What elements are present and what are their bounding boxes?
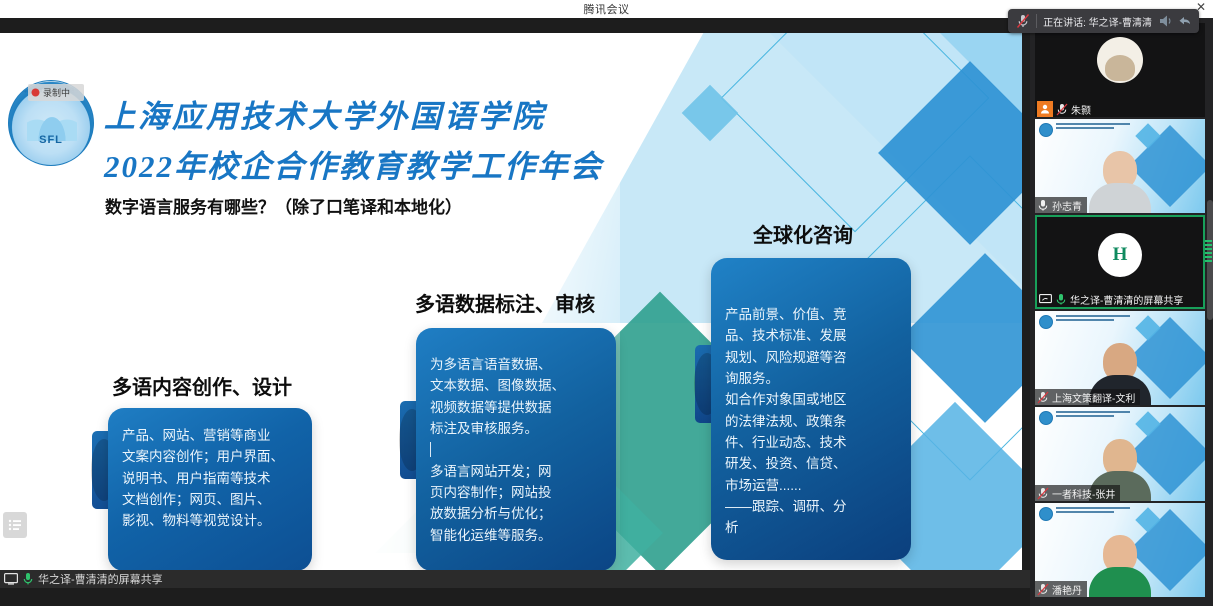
card3-line-10: ——跟踪、调研、分 — [725, 496, 897, 517]
card3-line-5: 如合作对象国或地区 — [725, 389, 897, 410]
text-caret — [430, 439, 602, 460]
mini-slide-text — [1056, 123, 1130, 131]
mic-muted-icon — [1056, 103, 1068, 116]
card3-line-8: 研发、投资、信贷、 — [725, 453, 897, 474]
content-card-2-body: 为多语言语音数据、 文本数据、图像数据、 视频数据等提供数据 标注及审核服务。 … — [430, 328, 602, 546]
slide-title-line2: 2022年校企合作教育教学工作年会 — [104, 141, 603, 186]
person-silhouette — [1090, 535, 1150, 597]
participant-namebar: 上海文策翻译-文利 — [1035, 389, 1140, 405]
participant-rail[interactable]: 朱颢 孙志青 — [1030, 18, 1213, 606]
participant-tile[interactable]: 一者科技-张井 — [1035, 407, 1205, 501]
recording-label: 录制中 — [43, 86, 70, 99]
mini-slide-text — [1056, 411, 1130, 419]
card1-line-2: 文案内容创作；用户界面、 — [122, 446, 298, 467]
mini-logo-icon — [1039, 315, 1053, 329]
participant-namebar: 孙志青 — [1035, 197, 1087, 213]
card2-line-8: 放数据分析与优化； — [430, 503, 602, 524]
content-card-1-body: 产品、网站、营销等商业 文案内容创作；用户界面、 说明书、用户指南等技术 文档创… — [122, 408, 298, 532]
content-card-2: 为多语言语音数据、 文本数据、图像数据、 视频数据等提供数据 标注及审核服务。 … — [416, 328, 616, 571]
share-status-label: 华之译-曹清清的屏幕共享 — [38, 571, 163, 587]
participant-name: 朱颢 — [1071, 102, 1091, 117]
speaking-pill-icons[interactable] — [1158, 14, 1193, 28]
participant-namebar: 朱颢 — [1035, 101, 1096, 117]
card3-line-11: 析 — [725, 517, 897, 538]
card2-line-9: 智能化运维等服务。 — [430, 525, 602, 546]
share-status-bar: 华之译-曹清清的屏幕共享 — [0, 570, 1030, 588]
card3-line-7: 件、行业动态、技术 — [725, 432, 897, 453]
mini-slide-text — [1056, 507, 1130, 515]
recording-badge: 录制中 — [28, 84, 84, 101]
mic-muted-icon — [1037, 391, 1049, 404]
participant-namebar: 一者科技-张井 — [1035, 485, 1120, 501]
mic-muted-icon — [1037, 487, 1049, 500]
speaking-indicator[interactable]: 正在讲话: 华之译-曹清清 — [1008, 9, 1199, 33]
volume-icon[interactable] — [1158, 14, 1174, 28]
content-card-3-body: 产品前景、价值、竞 品、技术标准、发展 规划、风险规避等咨 询服务。 如合作对象… — [725, 258, 897, 539]
mini-logo-icon — [1039, 123, 1053, 137]
window-title: 腾讯会议 — [584, 1, 630, 17]
card1-line-4: 文档创作；网页、图片、 — [122, 489, 298, 510]
card2-line-1: 为多语言语音数据、 — [430, 354, 602, 375]
avatar — [1097, 37, 1143, 83]
participant-tile[interactable]: 孙志青 — [1035, 119, 1205, 213]
slide-title-line1: 上海应用技术大学外国语学院 — [104, 91, 546, 136]
mic-muted-icon — [1037, 583, 1049, 596]
card3-line-9: 市场运营...... — [725, 475, 897, 496]
slide-subtitle: 数字语言服务有哪些？（除了口笔译和本地化） — [105, 193, 462, 218]
card1-line-1: 产品、网站、营销等商业 — [122, 425, 298, 446]
column-heading-3: 全球化咨询 — [753, 219, 853, 248]
card3-line-3: 规划、风险规避等咨 — [725, 347, 897, 368]
column-heading-2: 多语数据标注、审核 — [415, 288, 595, 317]
participant-tile[interactable]: 朱颢 — [1035, 23, 1205, 117]
card3-line-1: 产品前景、价值、竞 — [725, 304, 897, 325]
screen-share-icon — [1039, 294, 1052, 305]
card2-line-2: 文本数据、图像数据、 — [430, 375, 602, 396]
mini-slide-text — [1056, 315, 1130, 323]
participant-name: 上海文策翻译-文利 — [1052, 390, 1135, 405]
card3-line-6: 的法律法规、政策条 — [725, 411, 897, 432]
screen-share-icon — [4, 573, 18, 585]
company-logo-icon: H — [1098, 233, 1142, 277]
list-menu-icon[interactable] — [3, 512, 27, 538]
person-silhouette — [1090, 151, 1150, 213]
participant-name: 一者科技-张井 — [1052, 486, 1115, 501]
mini-logo-icon — [1039, 411, 1053, 425]
presentation-slide: 上海应用技术大学外国语学院 SFL 录制中 上海应用技术大学外国语学院 2022… — [0, 33, 1022, 588]
card3-line-2: 品、技术标准、发展 — [725, 325, 897, 346]
content-card-3: 产品前景、价值、竞 品、技术标准、发展 规划、风险规避等咨 询服务。 如合作对象… — [711, 258, 911, 560]
participant-namebar: 华之译-曹清清的屏幕共享 — [1037, 291, 1188, 307]
participant-tile[interactable]: 潘艳丹 — [1035, 503, 1205, 597]
card2-line-6: 多语言网站开发；网 — [430, 461, 602, 482]
participant-namebar: 潘艳丹 — [1035, 581, 1087, 597]
column-heading-1: 多语内容创作、设计 — [112, 371, 292, 400]
meeting-window: 腾讯会议 ✕ 正在讲话: 华之译-曹清清 — [0, 0, 1213, 606]
record-dot-icon — [31, 88, 40, 97]
mic-active-icon — [1055, 293, 1067, 306]
content-card-1: 产品、网站、营销等商业 文案内容创作；用户界面、 说明书、用户指南等技术 文档创… — [108, 408, 312, 571]
divider — [1036, 14, 1037, 28]
participant-name: 华之译-曹清清的屏幕共享 — [1070, 292, 1183, 307]
card2-line-7: 页内容制作；网站投 — [430, 482, 602, 503]
audio-level-meter — [1205, 240, 1212, 270]
card1-line-3: 说明书、用户指南等技术 — [122, 468, 298, 489]
mini-logo-icon — [1039, 507, 1053, 521]
mic-active-icon — [1037, 199, 1049, 212]
host-icon — [1037, 101, 1053, 117]
participant-name: 孙志青 — [1052, 198, 1082, 213]
logo-sfl-text: SFL — [9, 134, 93, 146]
participant-tile-speaking[interactable]: H 华之译-曹清清的屏幕共享 — [1035, 215, 1205, 309]
card1-line-5: 影视、物料等视觉设计。 — [122, 510, 298, 531]
participant-tile[interactable]: 上海文策翻译-文利 — [1035, 311, 1205, 405]
shared-screen-area: 上海应用技术大学外国语学院 SFL 录制中 上海应用技术大学外国语学院 2022… — [0, 18, 1030, 588]
card2-line-4: 标注及审核服务。 — [430, 418, 602, 439]
return-icon[interactable] — [1177, 14, 1193, 28]
mic-muted-icon — [1016, 13, 1030, 29]
card3-line-4: 询服务。 — [725, 368, 897, 389]
mic-active-icon — [22, 572, 34, 586]
card2-line-3: 视频数据等提供数据 — [430, 397, 602, 418]
speaking-label: 正在讲话: 华之译-曹清清 — [1043, 14, 1152, 29]
participant-name: 潘艳丹 — [1052, 582, 1082, 597]
